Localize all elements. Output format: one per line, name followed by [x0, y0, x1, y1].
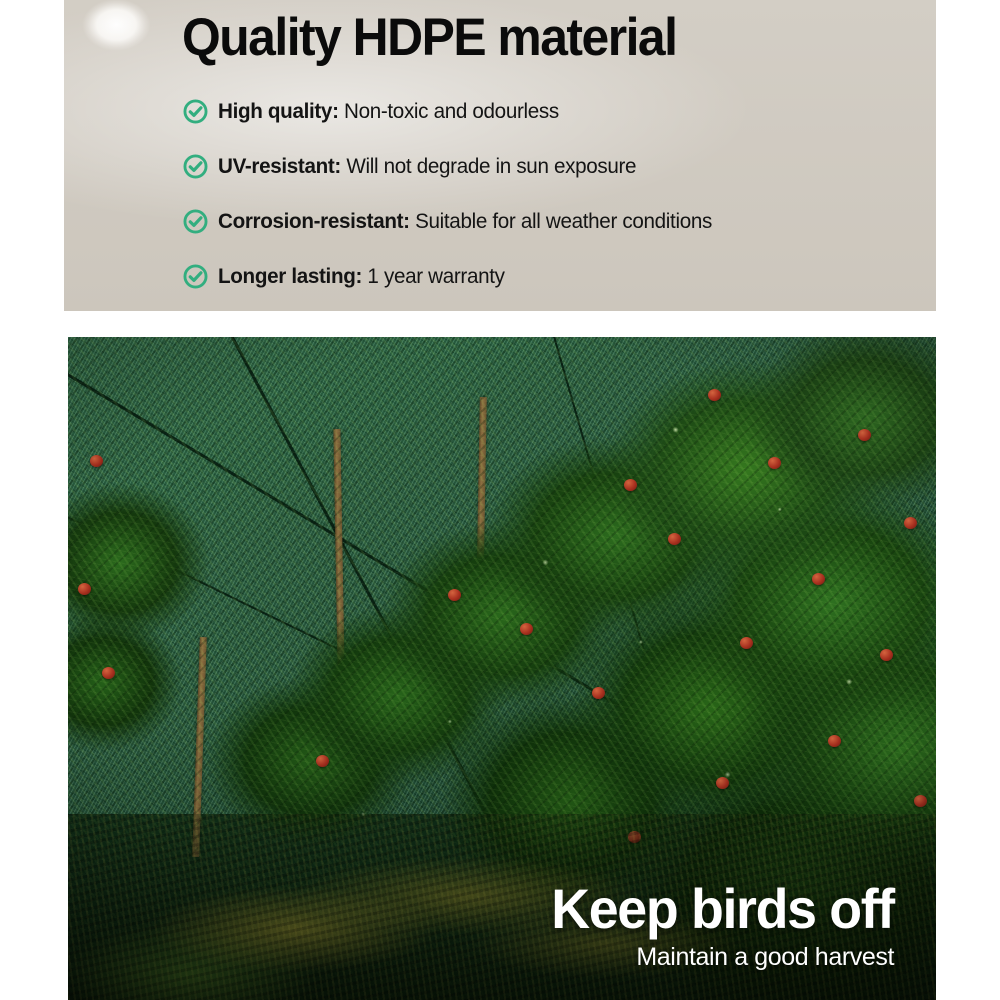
- overlay-title: Keep birds off: [551, 881, 894, 937]
- list-item: High quality: Non-toxic and odourless: [182, 84, 733, 139]
- product-feature-image: Quality HDPE material High quality: Non-…: [0, 0, 1000, 1000]
- page-title: Quality HDPE material: [182, 11, 676, 64]
- list-item-lead: High quality:: [218, 99, 339, 123]
- list-item: Longer lasting: 1 year warranty: [182, 249, 733, 304]
- feature-list: High quality: Non-toxic and odourless UV…: [182, 84, 733, 304]
- hdpe-material-panel: Quality HDPE material High quality: Non-…: [64, 0, 936, 311]
- list-item-text: Corrosion-resistant: Suitable for all we…: [218, 211, 712, 233]
- list-item-detail: 1 year warranty: [367, 264, 504, 288]
- list-item-detail: Suitable for all weather conditions: [415, 209, 712, 233]
- list-item-text: Longer lasting: 1 year warranty: [218, 266, 505, 288]
- list-item-text: UV-resistant: Will not degrade in sun ex…: [218, 156, 636, 178]
- overlay-caption: Keep birds off Maintain a good harvest: [537, 881, 894, 970]
- list-item-lead: UV-resistant:: [218, 154, 341, 178]
- check-circle-icon: [182, 208, 209, 235]
- orchard-photo-panel: Keep birds off Maintain a good harvest: [68, 337, 936, 1000]
- check-circle-icon: [182, 98, 209, 125]
- overlay-subtitle: Maintain a good harvest: [537, 945, 894, 970]
- check-circle-icon: [182, 153, 209, 180]
- list-item-text: High quality: Non-toxic and odourless: [218, 101, 559, 123]
- list-item-lead: Corrosion-resistant:: [218, 209, 410, 233]
- list-item: UV-resistant: Will not degrade in sun ex…: [182, 139, 733, 194]
- list-item: Corrosion-resistant: Suitable for all we…: [182, 194, 733, 249]
- list-item-lead: Longer lasting:: [218, 264, 362, 288]
- list-item-detail: Will not degrade in sun exposure: [346, 154, 636, 178]
- check-circle-icon: [182, 263, 209, 290]
- list-item-detail: Non-toxic and odourless: [344, 99, 559, 123]
